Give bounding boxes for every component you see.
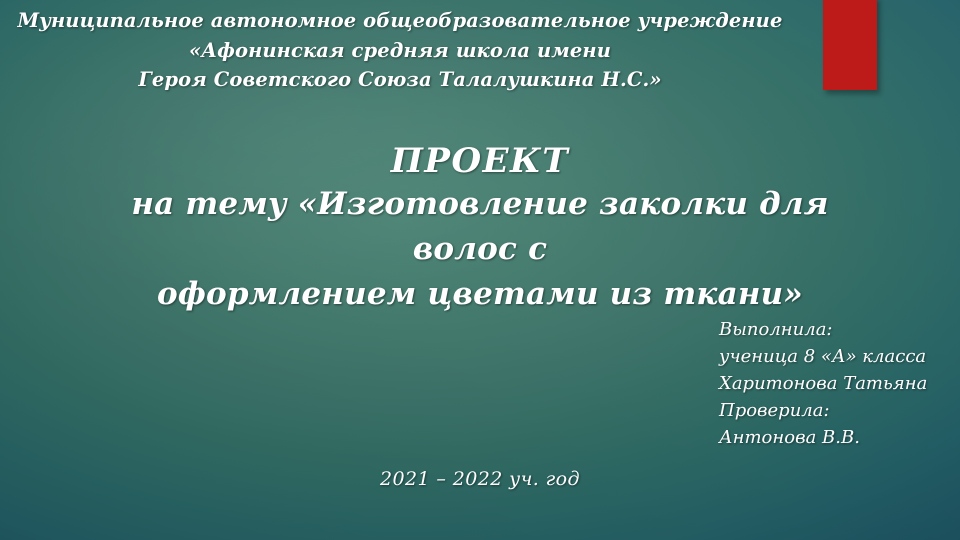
reviewer-role-label: Проверила: (719, 397, 959, 424)
author-block: Выполнила: ученица 8 «А» класса Харитоно… (719, 316, 959, 451)
red-accent-rectangle (823, 0, 877, 90)
header-line-2: «Афонинская средняя школа имени (0, 36, 800, 66)
header-line-3: Героя Советского Союза Талалушкина Н.С.» (0, 65, 800, 95)
title-line-2: оформлением цветами из ткани» (80, 272, 880, 317)
title-line-1: на тему «Изготовление заколки для волос … (80, 182, 880, 272)
author-role-label: Выполнила: (719, 316, 959, 343)
title-keyword: ПРОЕКТ (80, 140, 880, 182)
author-name: Харитонова Татьяна (719, 370, 959, 397)
institution-header: Муниципальное автономное общеобразовател… (0, 6, 800, 95)
academic-year: 2021 – 2022 уч. год (0, 466, 960, 492)
author-class: ученица 8 «А» класса (719, 343, 959, 370)
reviewer-name: Антонова В.В. (719, 424, 959, 451)
slide-title: ПРОЕКТ на тему «Изготовление заколки для… (80, 140, 880, 317)
academic-year-footer: 2021 – 2022 уч. год (0, 466, 960, 492)
header-line-1: Муниципальное автономное общеобразовател… (0, 6, 800, 36)
presentation-slide: Муниципальное автономное общеобразовател… (0, 0, 960, 540)
